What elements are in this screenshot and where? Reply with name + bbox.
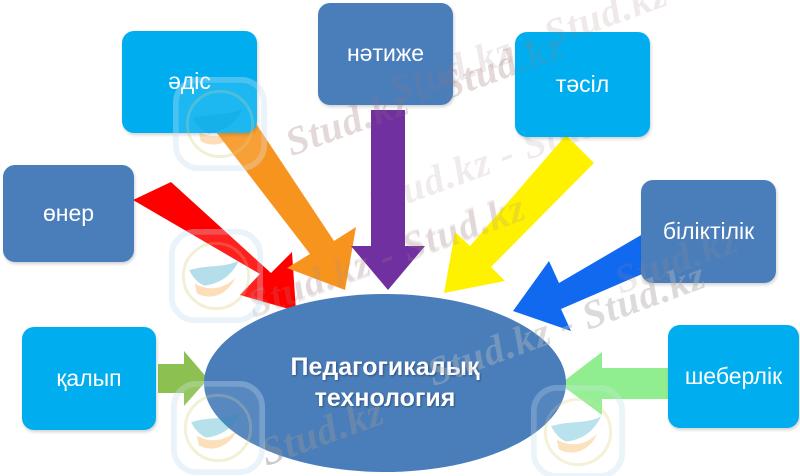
central-node-label: Педагогикалықтехнология — [291, 352, 480, 415]
node-oner[interactable]: өнер — [3, 165, 134, 262]
node-adis[interactable]: әдіс — [122, 31, 257, 133]
arrow-natije-to-center — [351, 110, 425, 290]
node-natije-label: нәтиже — [347, 41, 424, 66]
node-qalyp[interactable]: қалып — [22, 327, 156, 430]
node-oner-label: өнер — [43, 201, 94, 226]
node-biliktilik-label: біліктілік — [663, 219, 754, 244]
node-biliktilik[interactable]: біліктілік — [641, 180, 776, 283]
node-natije[interactable]: нәтиже — [318, 3, 453, 105]
arrow-adis-to-center — [213, 110, 356, 290]
diagram-canvas: Stud.kz - Stud.kz Stud.kz - Stud.kz Stud… — [0, 0, 800, 476]
node-tasil[interactable]: тәсіл — [515, 32, 650, 137]
central-node-label-line1: Педагогикалық — [291, 353, 480, 381]
node-sheberlik-label: шеберлік — [685, 364, 782, 389]
brand-logo-icon — [168, 228, 264, 324]
arrow-sheberlik-to-center — [560, 352, 669, 415]
node-sheberlik[interactable]: шеберлік — [668, 325, 799, 428]
arrow-tasil-to-center — [444, 135, 594, 293]
central-node[interactable]: Педагогикалықтехнология — [204, 294, 566, 472]
central-node-label-line2: технология — [315, 384, 456, 412]
arrow-qalyp-to-center — [158, 351, 208, 406]
node-adis-label: әдіс — [168, 69, 211, 94]
node-tasil-label: тәсіл — [556, 72, 609, 97]
brand-logo-icon — [168, 228, 264, 324]
node-qalyp-label: қалып — [56, 366, 121, 391]
arrow-oner-to-center — [133, 182, 296, 311]
